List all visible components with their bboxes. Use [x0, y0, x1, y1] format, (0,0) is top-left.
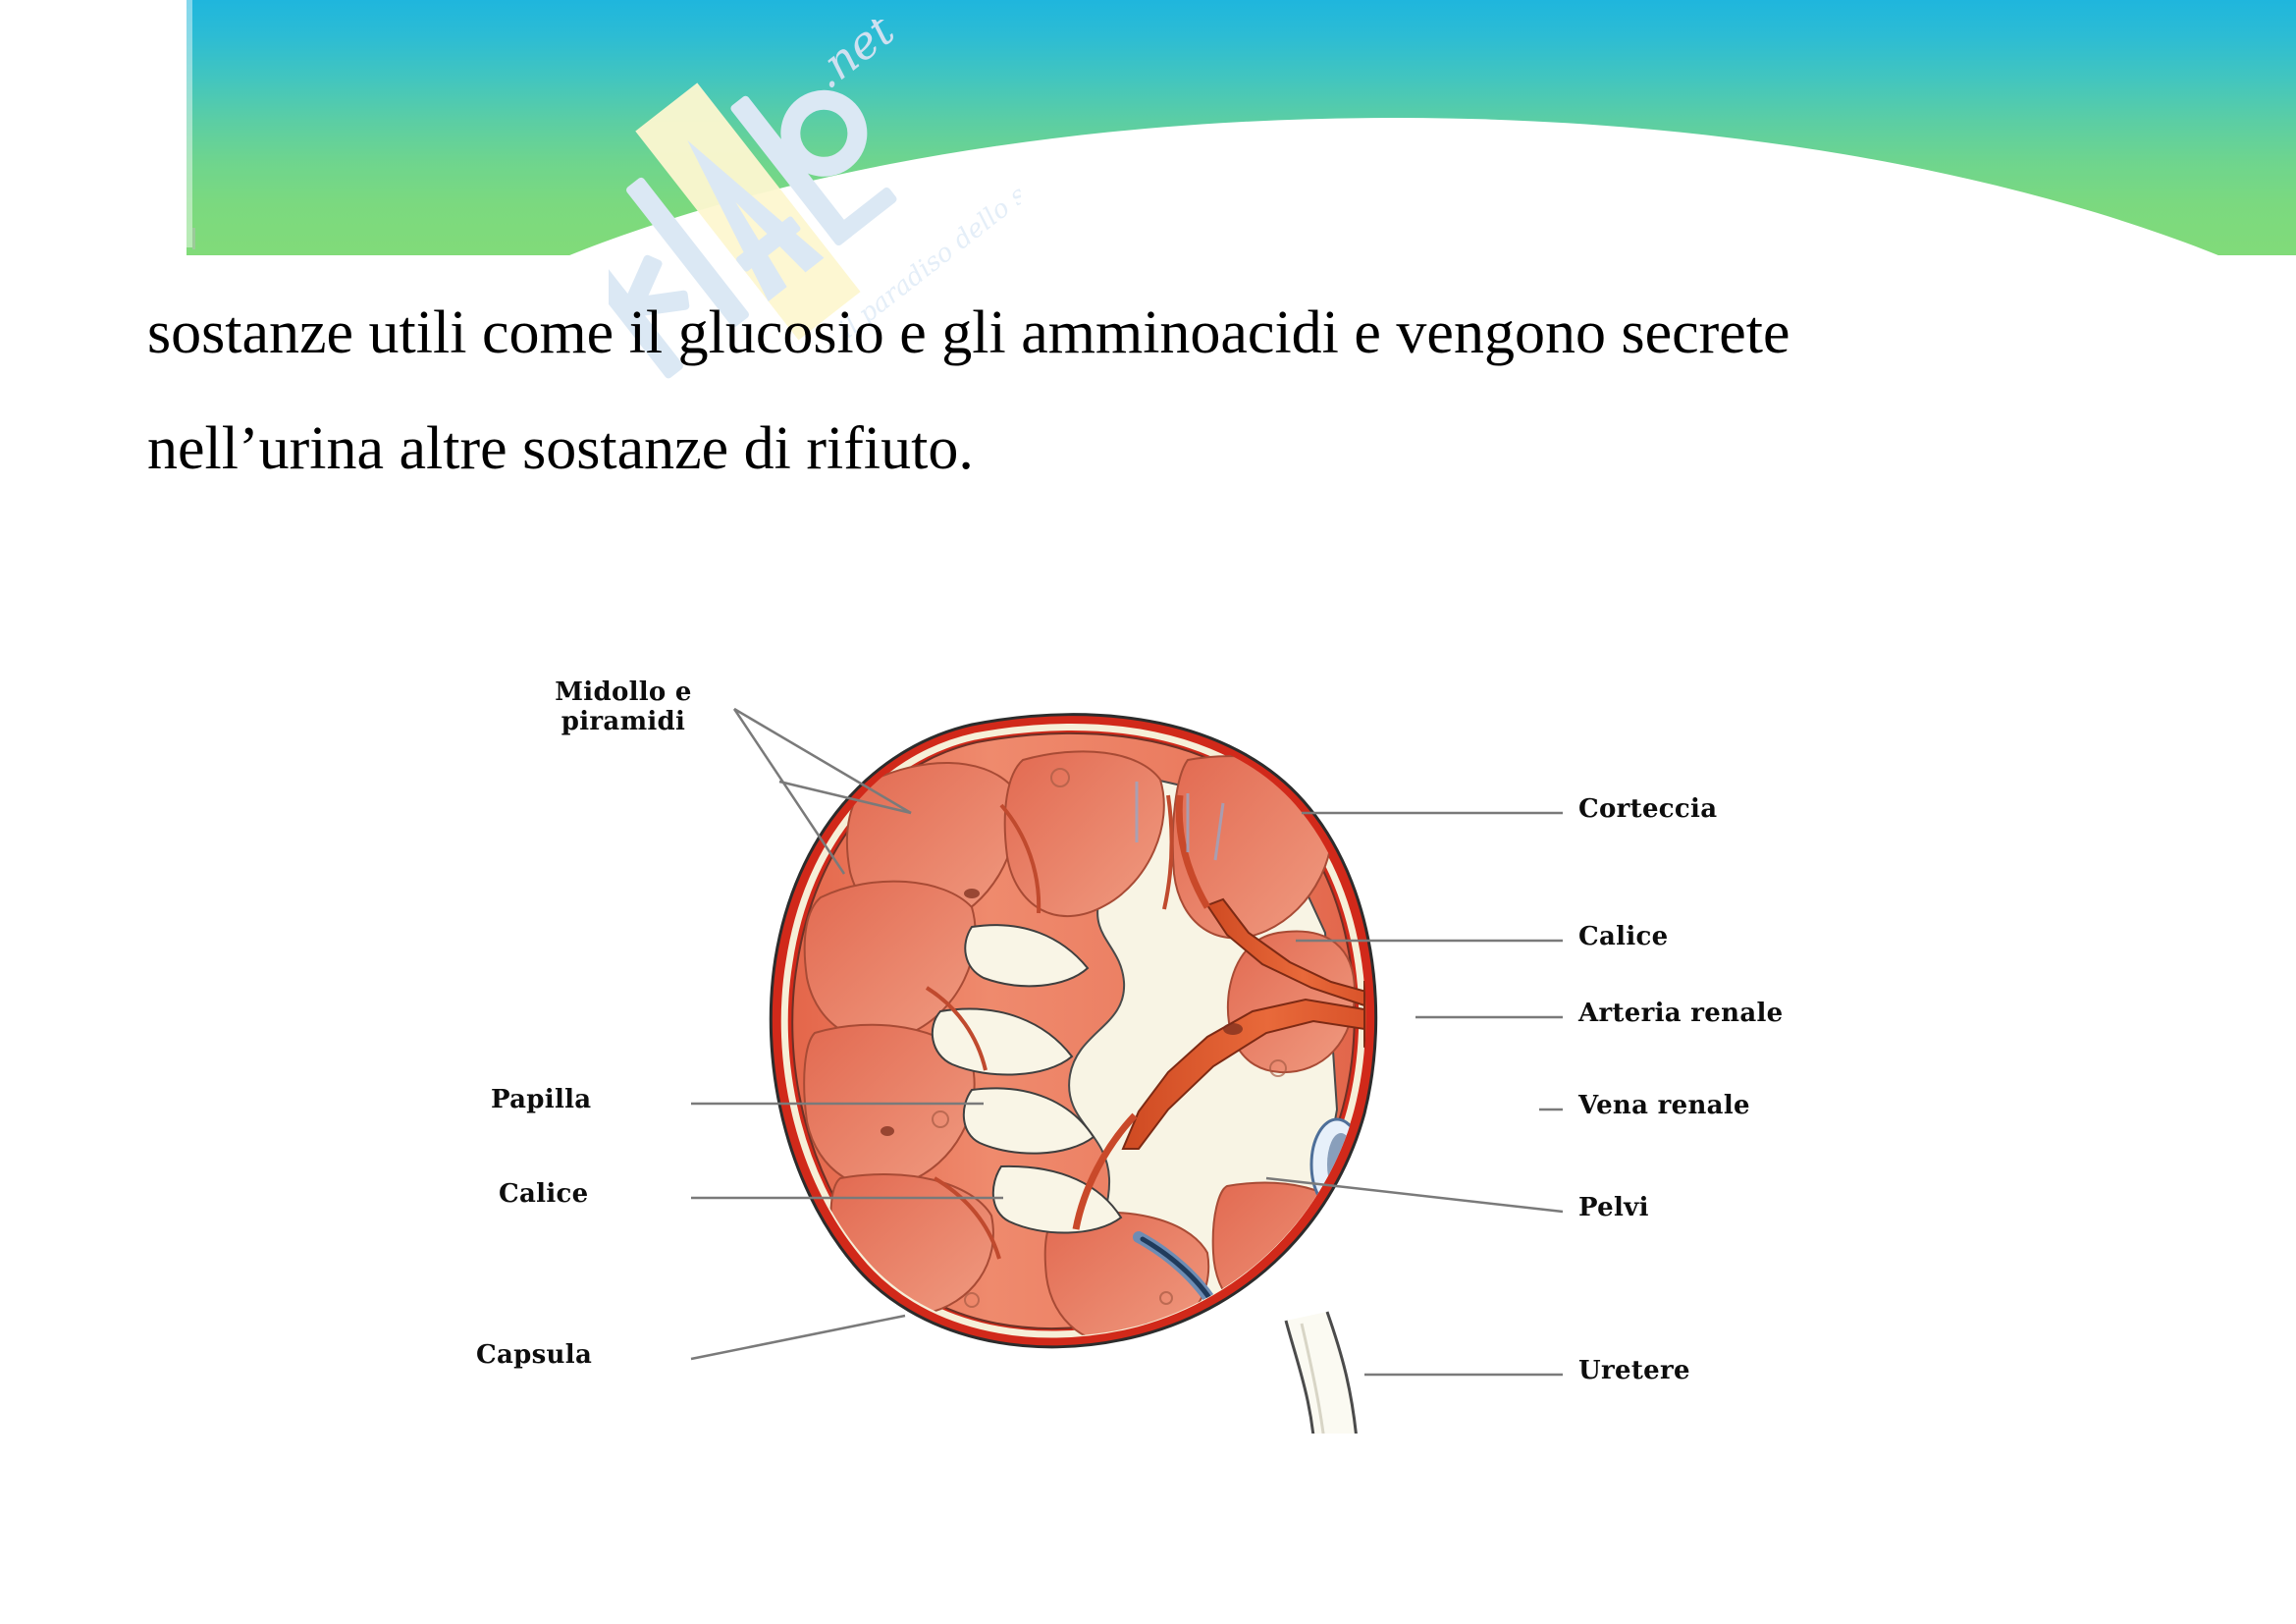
body-paragraph-2: nell’urina altre sostanze di rifiuto.	[147, 391, 1963, 507]
label-calice-left: Calice	[499, 1179, 588, 1209]
label-corteccia: Corteccia	[1578, 794, 1717, 824]
label-midollo-line2: piramidi	[515, 707, 731, 736]
label-uretere: Uretere	[1578, 1356, 1690, 1385]
slide-body-text: sostanze utili come il glucosio e gli am…	[147, 275, 1963, 507]
ureter	[1286, 1312, 1361, 1434]
slide-canvas: .net il paradiso dello studente sostanze…	[0, 0, 2296, 1624]
label-midollo-line1: Midollo e	[515, 677, 731, 707]
label-arteria-renale: Arteria renale	[1578, 999, 1784, 1028]
kidney-figure: Midollo e piramidi Papilla Calice Capsul…	[677, 687, 1777, 1434]
leader-midollo-b	[734, 709, 844, 874]
leader-midollo-a	[734, 709, 911, 813]
label-calice-right: Calice	[1578, 922, 1668, 951]
kidney-interior	[804, 751, 1712, 1344]
banner-left-strip	[187, 0, 192, 247]
label-pelvi: Pelvi	[1578, 1193, 1649, 1222]
pyramid-9	[1213, 1183, 1363, 1322]
label-papilla: Papilla	[491, 1085, 591, 1114]
label-midollo-e-piramidi: Midollo e piramidi	[515, 677, 731, 736]
leader-capsula	[691, 1316, 905, 1359]
header-banner	[187, 0, 2296, 255]
label-vena-renale: Vena renale	[1578, 1091, 1750, 1120]
renal-vein	[1325, 1102, 1712, 1229]
label-capsula: Capsula	[476, 1340, 592, 1370]
body-paragraph-1: sostanze utili come il glucosio e gli am…	[147, 275, 1963, 391]
banner-left-tick	[192, 228, 195, 249]
